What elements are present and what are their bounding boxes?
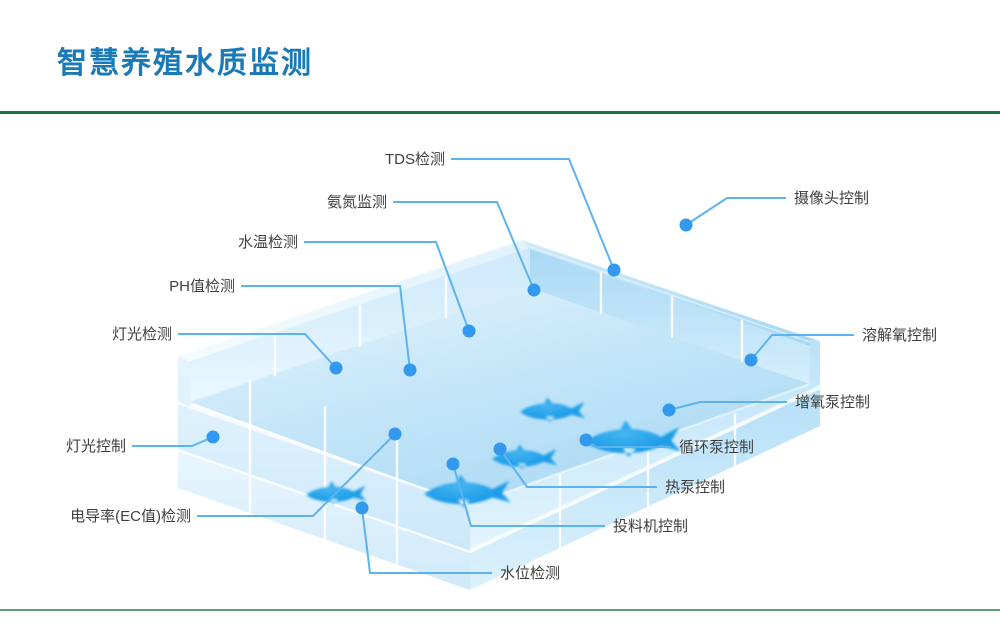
page-root: 智慧养殖水质监测 — [0, 0, 1000, 623]
aquaculture-tank-illustration — [0, 112, 1000, 609]
node-ec[interactable] — [389, 428, 402, 441]
label-heat-pump[interactable]: 热泵控制 — [665, 480, 725, 495]
node-oxygen-pump[interactable] — [663, 404, 676, 417]
leader-camera — [686, 198, 786, 225]
label-ammonia[interactable]: 氨氮监测 — [207, 195, 387, 210]
label-light-detect[interactable]: 灯光检测 — [0, 327, 172, 342]
diagram-stage: TDS检测 氨氮监测 水温检测 PH值检测 灯光检测 灯光控制 电导率(EC值)… — [0, 112, 1000, 609]
node-light-control[interactable] — [207, 431, 220, 444]
node-heat-pump[interactable] — [494, 443, 507, 456]
page-header: 智慧养殖水质监测 — [0, 0, 1000, 112]
node-ph[interactable] — [404, 364, 417, 377]
node-circulation-pump[interactable] — [580, 434, 593, 447]
footer-divider — [0, 609, 1000, 611]
label-light-control[interactable]: 灯光控制 — [0, 439, 126, 454]
label-feeder[interactable]: 投料机控制 — [613, 519, 688, 534]
label-oxygen-pump[interactable]: 增氧泵控制 — [795, 395, 870, 410]
node-water-level[interactable] — [356, 502, 369, 515]
label-tds[interactable]: TDS检测 — [265, 152, 445, 167]
label-water-level[interactable]: 水位检测 — [500, 566, 560, 581]
label-ph[interactable]: PH值检测 — [55, 279, 235, 294]
tank-body — [178, 239, 820, 590]
label-water-temp[interactable]: 水温检测 — [118, 235, 298, 250]
node-light-detect[interactable] — [330, 362, 343, 375]
label-circulation-pump[interactable]: 循环泵控制 — [679, 440, 754, 455]
node-dissolved-oxygen[interactable] — [745, 354, 758, 367]
node-water-temp[interactable] — [463, 325, 476, 338]
node-ammonia[interactable] — [528, 284, 541, 297]
node-feeder[interactable] — [447, 458, 460, 471]
page-title: 智慧养殖水质监测 — [57, 38, 313, 82]
label-ec[interactable]: 电导率(EC值)检测 — [11, 509, 191, 524]
node-tds[interactable] — [608, 264, 621, 277]
label-dissolved-oxygen[interactable]: 溶解氧控制 — [862, 328, 937, 343]
node-camera[interactable] — [680, 219, 693, 232]
label-camera[interactable]: 摄像头控制 — [794, 191, 869, 206]
